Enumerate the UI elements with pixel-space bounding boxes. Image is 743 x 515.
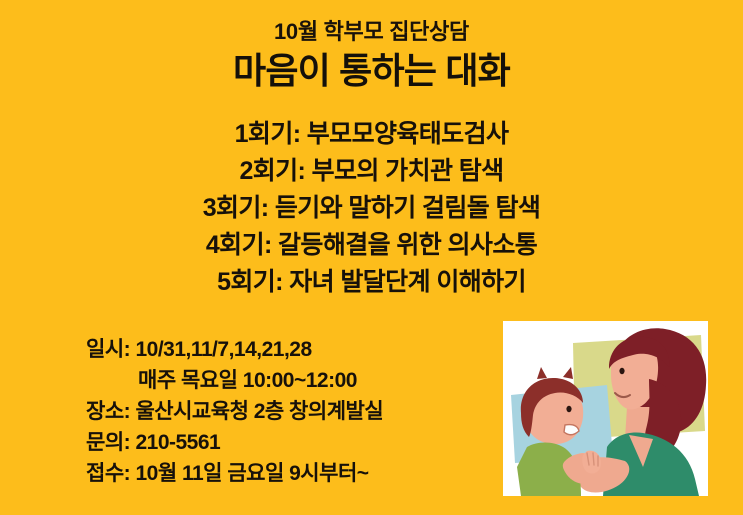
detail-contact: 문의: 210-5561	[86, 427, 486, 458]
illustration-panel	[503, 321, 708, 496]
session-item: 2회기: 부모의 가치관 탐색	[0, 153, 743, 190]
child-eye	[566, 406, 571, 412]
detail-registration: 접수: 10월 11일 금요일 9시부터~	[86, 458, 486, 489]
session-item: 1회기: 부모모양육태도검사	[0, 116, 743, 153]
child-hair-spike-left	[537, 367, 547, 379]
detail-date: 일시: 10/31,11/7,14,21,28	[86, 334, 486, 365]
child-mouth	[564, 425, 579, 435]
detail-schedule: 매주 목요일 10:00~12:00	[86, 365, 486, 396]
details-block: 일시: 10/31,11/7,14,21,28 매주 목요일 10:00~12:…	[86, 334, 486, 489]
poster-subtitle: 10월 학부모 집단상담	[0, 18, 743, 46]
child-hair-spike-right	[563, 367, 573, 379]
session-list: 1회기: 부모모양육태도검사 2회기: 부모의 가치관 탐색 3회기: 듣기와 …	[0, 116, 743, 301]
detail-location: 장소: 울산시교육청 2층 창의계발실	[86, 396, 486, 427]
session-item: 4회기: 갈등해결을 위한 의사소통	[0, 227, 743, 264]
poster-title: 마음이 통하는 대화	[0, 48, 743, 94]
poster-header: 10월 학부모 집단상담 마음이 통하는 대화	[0, 18, 743, 94]
mother-eye	[619, 368, 624, 374]
mother-and-child-illustration	[503, 321, 708, 496]
session-item: 3회기: 듣기와 말하기 걸림돌 탐색	[0, 190, 743, 227]
poster-canvas: 10월 학부모 집단상담 마음이 통하는 대화 1회기: 부모모양육태도검사 2…	[0, 0, 743, 515]
session-item: 5회기: 자녀 발달단계 이해하기	[0, 264, 743, 301]
